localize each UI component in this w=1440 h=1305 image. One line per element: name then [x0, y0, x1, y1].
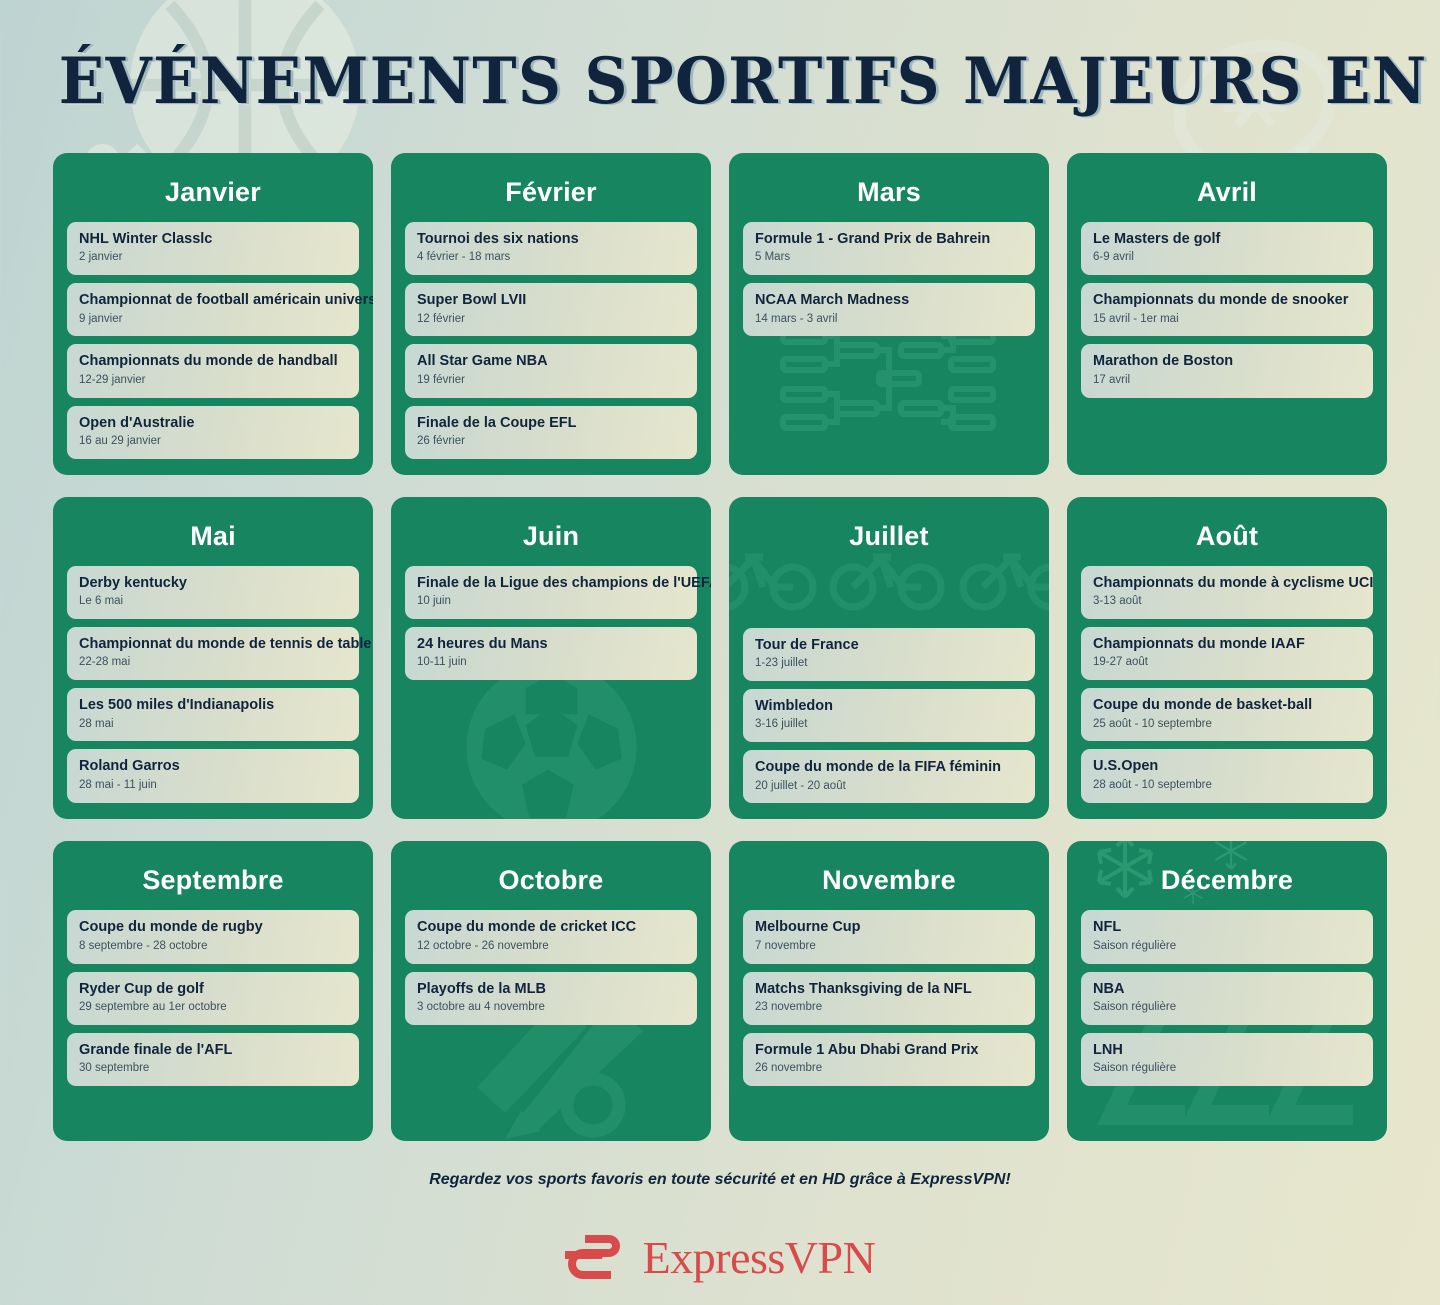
- event-date: 29 septembre au 1er octobre: [79, 1001, 347, 1015]
- month-title: Juillet: [743, 521, 1035, 552]
- event-name: Championnats du monde IAAF: [1093, 636, 1361, 653]
- event-date: 2 janvier: [79, 251, 347, 265]
- event-date: 28 mai: [79, 718, 347, 732]
- event-date: 9 janvier: [79, 313, 347, 327]
- event-item[interactable]: Roland Garros 28 mai - 11 juin: [67, 749, 359, 802]
- event-name: Championnats du monde de handball: [79, 353, 347, 370]
- event-item[interactable]: Ryder Cup de golf 29 septembre au 1er oc…: [67, 972, 359, 1025]
- event-list: Derby kentucky Le 6 mai Championnat du m…: [67, 566, 359, 803]
- event-list: Tournoi des six nations 4 février - 18 m…: [405, 222, 697, 459]
- month-card-fevrier: Février Tournoi des six nations 4 févrie…: [391, 153, 711, 475]
- footer: Regardez vos sports favoris en toute séc…: [0, 1171, 1440, 1289]
- event-date: 19-27 août: [1093, 656, 1361, 670]
- footer-tagline: Regardez vos sports favoris en toute séc…: [0, 1171, 1440, 1189]
- month-title: Octobre: [405, 865, 697, 896]
- event-date: 19 février: [417, 374, 685, 388]
- event-date: Saison régulière: [1093, 1062, 1361, 1076]
- event-name: Coupe du monde de la FIFA féminin: [755, 759, 1023, 776]
- event-name: Roland Garros: [79, 758, 347, 775]
- event-item[interactable]: Tour de France 1-23 juillet: [743, 628, 1035, 681]
- event-date: 6-9 avril: [1093, 251, 1361, 265]
- event-list: Coupe du monde de rugby 8 septembre - 28…: [67, 910, 359, 1086]
- event-item[interactable]: Derby kentucky Le 6 mai: [67, 566, 359, 619]
- event-date: 10 juin: [417, 595, 685, 609]
- month-card-juin: Juin Finale de la Ligue des champions de…: [391, 497, 711, 820]
- event-item[interactable]: Les 500 miles d'Indianapolis 28 mai: [67, 688, 359, 741]
- event-date: Saison régulière: [1093, 1001, 1361, 1015]
- month-card-decembre: Décembre NFL Saison régulière NBA Saison…: [1067, 841, 1387, 1141]
- event-item[interactable]: Playoffs de la MLB 3 octobre au 4 novemb…: [405, 972, 697, 1025]
- event-date: 30 septembre: [79, 1062, 347, 1076]
- event-name: NHL Winter Classlc: [79, 231, 347, 248]
- event-date: Saison régulière: [1093, 940, 1361, 954]
- event-name: 24 heures du Mans: [417, 636, 685, 653]
- month-card-septembre: Septembre Coupe du monde de rugby 8 sept…: [53, 841, 373, 1141]
- event-name: U.S.Open: [1093, 758, 1361, 775]
- event-item[interactable]: Finale de la Coupe EFL 26 février: [405, 406, 697, 459]
- months-grid: Janvier NHL Winter Classlc 2 janvier Cha…: [0, 153, 1440, 1141]
- event-item[interactable]: Formule 1 Abu Dhabi Grand Prix 26 novemb…: [743, 1033, 1035, 1086]
- event-date: 26 novembre: [755, 1062, 1023, 1076]
- expressvpn-wordmark: ExpressVPN: [643, 1231, 876, 1284]
- month-title: Août: [1081, 521, 1373, 552]
- event-name: Super Bowl LVII: [417, 292, 685, 309]
- event-item[interactable]: Championnats du monde de snooker 15 avri…: [1081, 283, 1373, 336]
- event-name: Tour de France: [755, 637, 1023, 654]
- event-item[interactable]: NFL Saison régulière: [1081, 910, 1373, 963]
- month-title: Avril: [1081, 177, 1373, 208]
- event-name: Ryder Cup de golf: [79, 981, 347, 998]
- event-name: All Star Game NBA: [417, 353, 685, 370]
- event-item[interactable]: All Star Game NBA 19 février: [405, 344, 697, 397]
- event-date: 22-28 mai: [79, 656, 347, 670]
- event-name: Tournoi des six nations: [417, 231, 685, 248]
- event-date: 10-11 juin: [417, 656, 685, 670]
- page-title-text: ÉVÉNEMENTS SPORTIFS MAJEURS EN 2023: [59, 44, 1440, 119]
- event-date: 26 février: [417, 435, 685, 449]
- event-name: NFL: [1093, 919, 1361, 936]
- event-name: Finale de la Ligue des champions de l'UE…: [417, 575, 685, 592]
- event-date: 3-13 août: [1093, 595, 1361, 609]
- event-item[interactable]: Coupe du monde de cricket ICC 12 octobre…: [405, 910, 697, 963]
- event-date: 12 février: [417, 313, 685, 327]
- bicycles-watermark-icon: [729, 545, 1049, 615]
- event-date: 12-29 janvier: [79, 374, 347, 388]
- event-date: 28 mai - 11 juin: [79, 779, 347, 793]
- event-item[interactable]: Open d'Australie 16 au 29 janvier: [67, 406, 359, 459]
- event-list: Le Masters de golf 6-9 avril Championnat…: [1081, 222, 1373, 398]
- event-item[interactable]: Matchs Thanksgiving de la NFL 23 novembr…: [743, 972, 1035, 1025]
- event-item[interactable]: NCAA March Madness 14 mars - 3 avril: [743, 283, 1035, 336]
- event-name: Le Masters de golf: [1093, 231, 1361, 248]
- event-item[interactable]: Championnats du monde à cyclisme UCI 3-1…: [1081, 566, 1373, 619]
- event-date: 1-23 juillet: [755, 657, 1023, 671]
- event-name: Melbourne Cup: [755, 919, 1023, 936]
- event-item[interactable]: Melbourne Cup 7 novembre: [743, 910, 1035, 963]
- event-name: NCAA March Madness: [755, 292, 1023, 309]
- month-title: Septembre: [67, 865, 359, 896]
- event-item[interactable]: Finale de la Ligue des champions de l'UE…: [405, 566, 697, 619]
- event-item[interactable]: LNH Saison régulière: [1081, 1033, 1373, 1086]
- page-title: ÉVÉNEMENTS SPORTIFS MAJEURS EN 2023: [0, 0, 1440, 119]
- event-date: Le 6 mai: [79, 595, 347, 609]
- tournament-bracket-watermark-icon: [779, 325, 999, 435]
- event-name: Finale de la Coupe EFL: [417, 415, 685, 432]
- month-title: Novembre: [743, 865, 1035, 896]
- event-date: 16 au 29 janvier: [79, 435, 347, 449]
- event-item[interactable]: Formule 1 - Grand Prix de Bahrein 5 Mars: [743, 222, 1035, 275]
- event-list: Formule 1 - Grand Prix de Bahrein 5 Mars…: [743, 222, 1035, 336]
- month-card-janvier: Janvier NHL Winter Classlc 2 janvier Cha…: [53, 153, 373, 475]
- event-name: Coupe du monde de basket-ball: [1093, 697, 1361, 714]
- month-title: Janvier: [67, 177, 359, 208]
- event-item[interactable]: Championnats du monde de handball 12-29 …: [67, 344, 359, 397]
- event-date: 14 mars - 3 avril: [755, 313, 1023, 327]
- event-list: Finale de la Ligue des champions de l'UE…: [405, 566, 697, 680]
- event-name: Les 500 miles d'Indianapolis: [79, 697, 347, 714]
- event-name: LNH: [1093, 1042, 1361, 1059]
- event-name: Wimbledon: [755, 698, 1023, 715]
- event-list: NFL Saison régulière NBA Saison régulièr…: [1081, 910, 1373, 1086]
- month-card-juillet: Juillet Tour de France 1-23 juillet Wimb…: [729, 497, 1049, 820]
- event-item[interactable]: 24 heures du Mans 10-11 juin: [405, 627, 697, 680]
- event-item[interactable]: Tournoi des six nations 4 février - 18 m…: [405, 222, 697, 275]
- event-name: Championnats du monde à cyclisme UCI: [1093, 575, 1361, 592]
- event-date: 12 octobre - 26 novembre: [417, 940, 685, 954]
- event-name: Derby kentucky: [79, 575, 347, 592]
- event-date: 8 septembre - 28 octobre: [79, 940, 347, 954]
- event-name: Championnats du monde de snooker: [1093, 292, 1361, 309]
- event-date: 5 Mars: [755, 251, 1023, 265]
- event-date: 3-16 juillet: [755, 718, 1023, 732]
- event-name: Formule 1 - Grand Prix de Bahrein: [755, 231, 1023, 248]
- event-name: Championnat du monde de tennis de table: [79, 636, 347, 653]
- event-item[interactable]: Championnat de football américain univer…: [67, 283, 359, 336]
- event-date: 20 juillet - 20 août: [755, 780, 1023, 794]
- event-item[interactable]: Grande finale de l'AFL 30 septembre: [67, 1033, 359, 1086]
- event-date: 4 février - 18 mars: [417, 251, 685, 265]
- event-date: 23 novembre: [755, 1001, 1023, 1015]
- event-name: Coupe du monde de cricket ICC: [417, 919, 685, 936]
- event-item[interactable]: Championnats du monde IAAF 19-27 août: [1081, 627, 1373, 680]
- event-item[interactable]: Coupe du monde de rugby 8 septembre - 28…: [67, 910, 359, 963]
- event-date: 15 avril - 1er mai: [1093, 313, 1361, 327]
- event-name: Championnat de football américain univer…: [79, 292, 347, 309]
- month-card-novembre: Novembre Melbourne Cup 7 novembre Matchs…: [729, 841, 1049, 1141]
- event-name: Formule 1 Abu Dhabi Grand Prix: [755, 1042, 1023, 1059]
- month-card-mai: Mai Derby kentucky Le 6 mai Championnat …: [53, 497, 373, 820]
- event-name: Matchs Thanksgiving de la NFL: [755, 981, 1023, 998]
- event-name: Marathon de Boston: [1093, 353, 1361, 370]
- event-list: Coupe du monde de cricket ICC 12 octobre…: [405, 910, 697, 1024]
- expressvpn-logo[interactable]: ExpressVPN: [0, 1225, 1440, 1289]
- event-date: 3 octobre au 4 novembre: [417, 1001, 685, 1015]
- event-name: Playoffs de la MLB: [417, 981, 685, 998]
- month-title: Décembre: [1081, 865, 1373, 896]
- month-card-mars: Mars Formule 1 - Grand Prix de Bahrein 5…: [729, 153, 1049, 475]
- event-item[interactable]: Coupe du monde de la FIFA féminin 20 jui…: [743, 750, 1035, 803]
- event-item[interactable]: Wimbledon 3-16 juillet: [743, 689, 1035, 742]
- event-name: NBA: [1093, 981, 1361, 998]
- event-date: 28 août - 10 septembre: [1093, 779, 1361, 793]
- event-date: 7 novembre: [755, 940, 1023, 954]
- event-item[interactable]: Super Bowl LVII 12 février: [405, 283, 697, 336]
- event-date: 25 août - 10 septembre: [1093, 718, 1361, 732]
- event-item[interactable]: Marathon de Boston 17 avril: [1081, 344, 1373, 397]
- event-item[interactable]: Championnat du monde de tennis de table …: [67, 627, 359, 680]
- event-name: Open d'Australie: [79, 415, 347, 432]
- event-list: Championnats du monde à cyclisme UCI 3-1…: [1081, 566, 1373, 803]
- event-item[interactable]: Coupe du monde de basket-ball 25 août - …: [1081, 688, 1373, 741]
- month-title: Mai: [67, 521, 359, 552]
- event-list: Melbourne Cup 7 novembre Matchs Thanksgi…: [743, 910, 1035, 1086]
- event-name: Coupe du monde de rugby: [79, 919, 347, 936]
- event-name: Grande finale de l'AFL: [79, 1042, 347, 1059]
- expressvpn-mark-icon: [565, 1225, 629, 1289]
- event-date: 17 avril: [1093, 374, 1361, 388]
- event-item[interactable]: U.S.Open 28 août - 10 septembre: [1081, 749, 1373, 802]
- event-item[interactable]: NBA Saison régulière: [1081, 972, 1373, 1025]
- month-card-avril: Avril Le Masters de golf 6-9 avril Champ…: [1067, 153, 1387, 475]
- month-card-octobre: Octobre Coupe du monde de cricket ICC 12…: [391, 841, 711, 1141]
- month-card-aout: Août Championnats du monde à cyclisme UC…: [1067, 497, 1387, 820]
- event-list: Tour de France 1-23 juillet Wimbledon 3-…: [743, 628, 1035, 804]
- event-item[interactable]: Le Masters de golf 6-9 avril: [1081, 222, 1373, 275]
- event-list: NHL Winter Classlc 2 janvier Championnat…: [67, 222, 359, 459]
- month-title: Mars: [743, 177, 1035, 208]
- month-title: Février: [405, 177, 697, 208]
- month-title: Juin: [405, 521, 697, 552]
- event-item[interactable]: NHL Winter Classlc 2 janvier: [67, 222, 359, 275]
